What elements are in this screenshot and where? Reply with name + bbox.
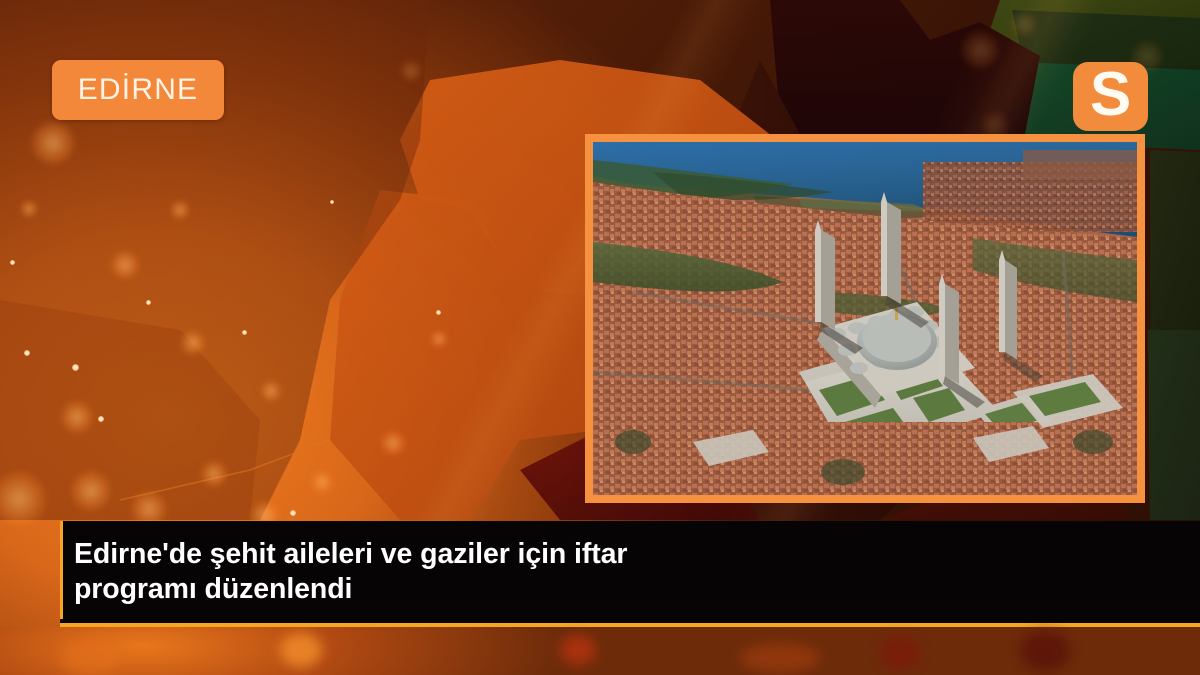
city-badge: EDİRNE: [52, 60, 224, 120]
brand-logo-letter: S: [1090, 64, 1131, 126]
photo-selimiye-mosque-aerial: [593, 142, 1137, 495]
bottom-strip: [0, 627, 1200, 675]
city-badge-label: EDİRNE: [78, 75, 199, 105]
headline-title: Edirne'de şehit aileleri ve gaziler için…: [60, 537, 778, 608]
headline-bar: Edirne'de şehit aileleri ve gaziler için…: [60, 521, 1200, 627]
brand-logo-s[interactable]: S: [1073, 62, 1148, 131]
news-card: EDİRNE S: [0, 0, 1200, 675]
photo-frame: [585, 134, 1145, 503]
